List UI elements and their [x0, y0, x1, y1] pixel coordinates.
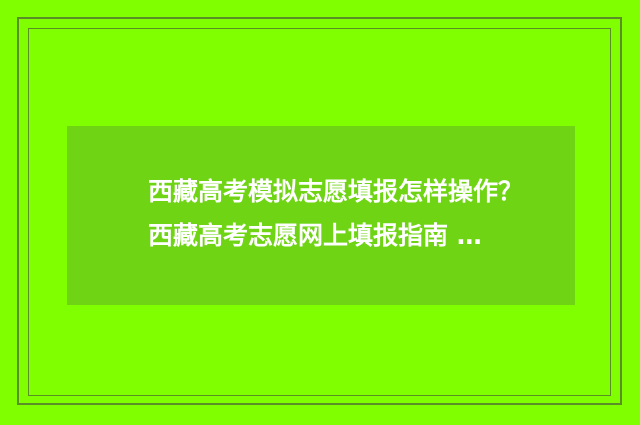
headline-line-2: 西藏高考志愿网上填报指南 … — [148, 214, 558, 258]
headline-line-1: 西藏高考模拟志愿填报怎样操作？ — [148, 170, 558, 214]
headline-block: 西藏高考模拟志愿填报怎样操作？ 西藏高考志愿网上填报指南 … — [148, 170, 558, 258]
banner-canvas: 西藏高考模拟志愿填报怎样操作？ 西藏高考志愿网上填报指南 … — [0, 0, 640, 425]
content-panel: 西藏高考模拟志愿填报怎样操作？ 西藏高考志愿网上填报指南 … — [67, 126, 575, 305]
